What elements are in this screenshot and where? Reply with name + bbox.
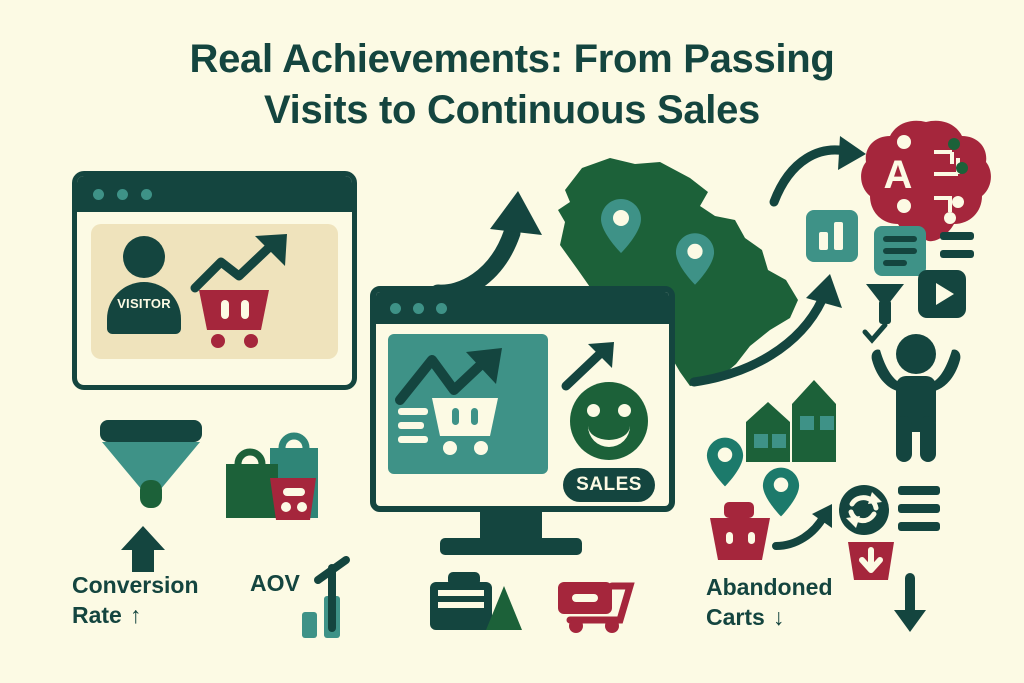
curved-arrow-small-icon — [772, 502, 842, 552]
red-cart-icon — [556, 578, 640, 634]
window-dot-icon[interactable] — [413, 303, 424, 314]
location-pin-icon — [706, 436, 744, 488]
kpi-aov-label: AOV — [250, 568, 300, 598]
buildings-icon — [738, 372, 858, 464]
window-titlebar — [77, 176, 352, 212]
map-pin-icon — [600, 198, 642, 254]
play-button-icon[interactable] — [918, 270, 966, 318]
title-line-1: Real Achievements: From Passing — [0, 34, 1024, 85]
monitor-titlebar — [376, 292, 669, 324]
window-dot-icon[interactable] — [93, 189, 104, 200]
refresh-cart-icon — [838, 484, 890, 536]
visitor-browser-window[interactable]: VISITOR — [72, 171, 357, 390]
kpi-conversion-trend: ↑ — [130, 600, 142, 630]
list-lines-icon — [398, 408, 428, 443]
visitor-panel: VISITOR — [91, 224, 338, 359]
celebrating-person-icon — [866, 330, 966, 466]
funnel-icon — [96, 418, 206, 518]
shopping-cart-icon — [195, 286, 275, 348]
smiley-eye-icon — [618, 404, 631, 417]
window-body: VISITOR — [77, 212, 352, 390]
smiley-eye-icon — [587, 404, 600, 417]
kpi-aov-text: AOV — [250, 570, 300, 596]
monitor-base — [440, 538, 582, 555]
window-dot-icon[interactable] — [117, 189, 128, 200]
kpi-conversion-line2: Rate — [72, 600, 122, 630]
visitor-label: VISITOR — [107, 296, 181, 311]
bar-chart-icon — [806, 210, 858, 262]
dash-lines-icon — [940, 232, 974, 258]
smiley-mouth-icon — [588, 420, 630, 447]
growth-arrow-icon — [191, 232, 306, 294]
person-head-icon — [123, 236, 165, 278]
kpi-abandoned-line2: Carts — [706, 602, 765, 632]
kpi-abandoned-carts-label: Abandoned Carts ↓ — [706, 572, 886, 633]
arrow-up-icon — [118, 524, 168, 574]
document-card-icon — [874, 226, 926, 276]
smiley-face-icon — [570, 382, 648, 460]
window-dot-icon[interactable] — [436, 303, 447, 314]
monitor-neck — [480, 512, 542, 538]
window-dot-icon[interactable] — [141, 189, 152, 200]
sales-badge: SALES — [563, 468, 655, 502]
sales-chart-panel — [388, 334, 548, 474]
briefcase-icon — [428, 568, 524, 634]
svg-text:A: A — [884, 153, 913, 197]
kpi-abandoned-trend: ↓ — [773, 602, 785, 632]
kpi-abandoned-line1: Abandoned — [706, 572, 886, 602]
cart-outline-icon — [426, 392, 506, 462]
kpi-conversion-line1: Conversion — [72, 570, 252, 600]
shopping-bags-icon — [212, 424, 324, 524]
window-dot-icon[interactable] — [390, 303, 401, 314]
hamburger-lines-icon — [898, 486, 940, 531]
infographic-canvas: Real Achievements: From Passing Visits t… — [0, 0, 1024, 683]
aov-trend-arrow-icon — [314, 556, 350, 632]
kpi-conversion-rate-label: Conversion Rate ↑ — [72, 570, 252, 631]
abandoned-basket-icon — [706, 500, 774, 566]
funnel-small-icon — [864, 282, 906, 326]
arrow-down-icon — [890, 576, 930, 636]
